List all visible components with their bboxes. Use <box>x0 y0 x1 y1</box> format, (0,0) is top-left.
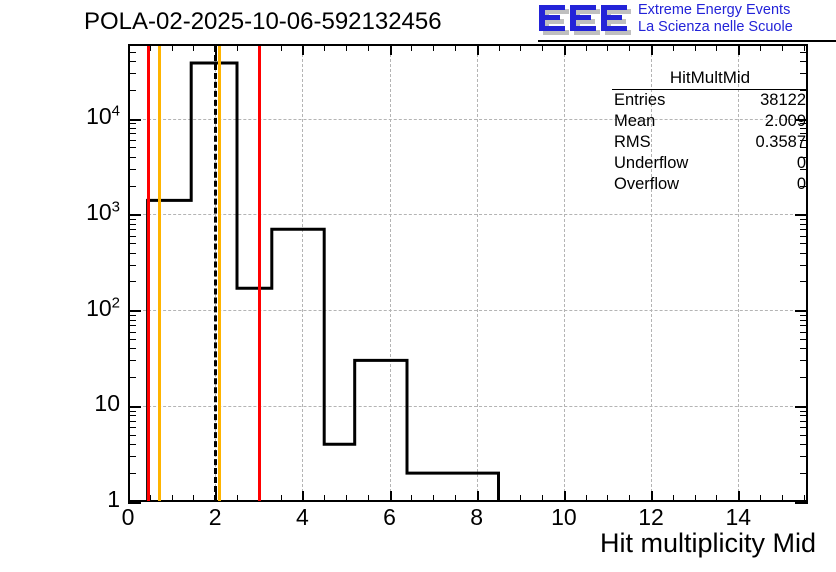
y-axis-tick <box>128 421 136 422</box>
y-axis-tick-right <box>800 377 808 378</box>
y-axis-tick-right <box>800 456 808 457</box>
x-axis-tick-label: 0 <box>122 504 135 531</box>
x-axis-tick-top <box>455 44 456 51</box>
y-axis-tick <box>128 140 136 141</box>
eee-logo-line1: Extreme Energy Events <box>638 2 836 19</box>
x-axis-tick <box>586 495 587 502</box>
x-axis-tick <box>128 491 130 502</box>
y-axis-tick <box>128 325 136 326</box>
x-axis-tick <box>673 495 674 502</box>
y-axis-tick <box>128 315 136 316</box>
x-axis-tick <box>651 491 653 502</box>
root-canvas: POLA-02-2025-10-06-592132456 <box>0 0 836 572</box>
y-axis-tick <box>128 52 136 53</box>
x-axis-tick <box>346 495 347 502</box>
y-axis-tick-right <box>800 473 808 474</box>
x-axis-tick <box>455 495 456 502</box>
y-axis-tick <box>128 456 136 457</box>
y-axis-tick-right <box>795 310 808 312</box>
y-axis-tick <box>128 406 141 408</box>
lower-red-cut <box>147 46 150 501</box>
y-axis-tick <box>128 411 136 412</box>
upper-orange-cut <box>218 46 221 501</box>
y-axis-tick <box>128 224 136 225</box>
x-axis-tick <box>695 495 696 502</box>
x-axis-tick-top <box>128 44 130 55</box>
y-axis-tick-right <box>800 229 808 230</box>
y-axis-tick <box>128 243 136 244</box>
x-axis-tick-top <box>281 44 282 51</box>
y-axis-tick <box>128 415 136 416</box>
y-axis-tick <box>128 332 136 333</box>
y-axis-tick-right <box>800 360 808 361</box>
y-axis-tick <box>128 219 136 220</box>
stats-row-key: Entries <box>614 90 665 111</box>
stats-row-value: 38122 <box>760 90 806 111</box>
x-axis-tick <box>760 495 761 502</box>
x-axis-tick-top <box>302 44 304 55</box>
stats-row-key: RMS <box>614 132 651 153</box>
x-axis-tick <box>302 491 304 502</box>
y-axis-tick <box>128 157 136 158</box>
y-axis-tick <box>128 169 136 170</box>
y-axis-tick-right <box>800 236 808 237</box>
x-axis-tick <box>368 495 369 502</box>
stats-row: Entries38122 <box>612 90 808 111</box>
y-axis-tick <box>128 360 136 361</box>
y-axis-tick-right <box>795 406 808 408</box>
y-axis-tick-right <box>795 214 808 216</box>
x-axis-tick <box>433 495 434 502</box>
y-axis-tick-label: 104 <box>86 103 120 129</box>
x-axis-tick-top <box>651 44 653 55</box>
y-axis-tick-label-wrap: 102 <box>0 294 120 322</box>
y-axis-tick <box>128 229 136 230</box>
page-title: POLA-02-2025-10-06-592132456 <box>84 8 442 36</box>
y-axis-tick <box>128 186 136 187</box>
x-axis-tick <box>237 495 238 502</box>
y-axis-tick <box>128 133 136 134</box>
x-axis-tick-top <box>542 44 543 51</box>
x-axis-tick <box>607 495 608 502</box>
x-axis-tick-top <box>607 44 608 51</box>
y-axis-tick-right <box>800 253 808 254</box>
x-axis-tick-top <box>586 44 587 51</box>
y-axis-tick-right <box>800 52 808 53</box>
lower-orange-cut <box>158 46 161 501</box>
y-axis-tick-right <box>800 339 808 340</box>
x-axis-tick-top <box>673 44 674 51</box>
y-axis-tick <box>128 427 136 428</box>
x-axis-tick-label: 6 <box>383 504 396 531</box>
y-axis-tick-label: 1 <box>107 486 120 512</box>
x-axis-tick <box>390 491 392 502</box>
x-axis-tick-top <box>237 44 238 51</box>
x-axis-tick-top <box>346 44 347 51</box>
stats-row: Underflow0 <box>612 153 808 174</box>
x-axis-tick-label: 10 <box>551 504 577 531</box>
y-axis-tick <box>128 214 141 216</box>
x-axis-tick-top <box>172 44 173 51</box>
y-axis-tick-right <box>795 502 808 504</box>
stats-row: RMS0.3587 <box>612 132 808 153</box>
stats-row-value: 2.009 <box>765 111 806 132</box>
y-axis-tick-right <box>800 315 808 316</box>
eee-logo-line2: La Scienza nelle Scuole <box>638 19 836 36</box>
y-axis-tick <box>128 236 136 237</box>
x-axis-tick-top <box>324 44 325 51</box>
x-axis-tick-label: 4 <box>296 504 309 531</box>
x-axis-tick <box>716 495 717 502</box>
stats-rows: Entries38122Mean2.009RMS0.3587Underflow0… <box>612 90 808 195</box>
y-axis-tick-right <box>800 281 808 282</box>
y-axis-tick <box>128 253 136 254</box>
y-axis-tick <box>128 265 136 266</box>
upper-red-cut <box>258 46 261 501</box>
x-axis-tick <box>804 495 805 502</box>
stats-row-key: Underflow <box>614 153 688 174</box>
y-axis-tick-right <box>800 332 808 333</box>
y-axis-tick-right <box>800 243 808 244</box>
header-rule <box>538 40 836 42</box>
x-axis-tick <box>629 495 630 502</box>
y-axis-tick-right <box>800 444 808 445</box>
stats-row-value: 0.3587 <box>756 132 806 153</box>
x-axis-title: Hit multiplicity Mid <box>600 528 816 559</box>
y-axis-tick-label-wrap: 104 <box>0 103 120 131</box>
y-axis-tick-right <box>800 427 808 428</box>
x-axis-tick <box>499 495 500 502</box>
x-axis-tick-top <box>411 44 412 51</box>
y-axis-tick-right <box>800 265 808 266</box>
stats-row-value: 0 <box>797 174 806 195</box>
x-axis-tick <box>193 495 194 502</box>
y-axis-tick <box>128 90 136 91</box>
x-axis-tick <box>738 491 740 502</box>
x-axis-tick-top <box>738 44 740 55</box>
y-axis-tick <box>128 281 136 282</box>
y-axis-tick <box>128 473 136 474</box>
y-axis-tick-right <box>800 61 808 62</box>
y-axis-tick-right <box>800 325 808 326</box>
x-axis-tick-top <box>782 44 783 51</box>
y-axis-tick-right <box>800 421 808 422</box>
y-axis-tick-label: 10 <box>94 390 120 416</box>
x-axis-tick <box>542 495 543 502</box>
x-axis-tick-top <box>150 44 151 51</box>
x-axis-tick-top <box>499 44 500 51</box>
eee-logo-mark <box>538 4 634 38</box>
eee-logo: Extreme Energy Events La Scienza nelle S… <box>538 2 836 40</box>
y-axis-tick-right <box>800 44 808 45</box>
y-axis-tick-label-wrap: 1 <box>0 486 120 513</box>
x-axis-tick-top <box>520 44 521 51</box>
y-axis-tick-right <box>800 411 808 412</box>
stats-box: HitMultMid Entries38122Mean2.009RMS0.358… <box>612 68 808 195</box>
stats-title: HitMultMid <box>612 68 808 90</box>
y-axis-tick <box>128 320 136 321</box>
x-axis-tick <box>324 495 325 502</box>
stats-row-key: Mean <box>614 111 655 132</box>
y-axis-tick <box>128 339 136 340</box>
y-axis-tick <box>128 348 136 349</box>
y-axis-tick-right <box>800 348 808 349</box>
stats-row-key: Overflow <box>614 174 679 195</box>
y-axis-tick <box>128 61 136 62</box>
y-axis-tick <box>128 310 141 312</box>
x-axis-tick <box>477 491 479 502</box>
y-axis-tick-right <box>800 320 808 321</box>
y-axis-tick <box>128 123 136 124</box>
y-axis-tick <box>128 444 136 445</box>
y-axis-tick-right <box>800 219 808 220</box>
x-axis-tick-top <box>390 44 392 55</box>
stats-row: Overflow0 <box>612 174 808 195</box>
x-axis-tick <box>564 491 566 502</box>
y-axis-tick-right <box>800 435 808 436</box>
x-axis-tick-top <box>564 44 566 55</box>
stats-row: Mean2.009 <box>612 111 808 132</box>
x-axis-tick-top <box>368 44 369 51</box>
x-axis-tick-top <box>716 44 717 51</box>
x-axis-tick <box>281 495 282 502</box>
y-axis-tick <box>128 119 141 121</box>
x-axis-tick-label: 2 <box>209 504 222 531</box>
y-axis-tick <box>128 147 136 148</box>
y-axis-tick-label-wrap: 103 <box>0 198 120 226</box>
y-axis-tick <box>128 44 136 45</box>
x-axis-tick <box>411 495 412 502</box>
y-axis-tick-right <box>800 224 808 225</box>
y-axis-tick <box>128 73 136 74</box>
x-axis-tick <box>520 495 521 502</box>
y-axis-tick-label: 102 <box>86 295 120 321</box>
y-axis-tick-label: 103 <box>86 199 120 225</box>
y-axis-tick <box>128 128 136 129</box>
y-axis-tick-right <box>800 415 808 416</box>
x-axis-tick-top <box>760 44 761 51</box>
x-axis-tick-label: 12 <box>638 504 664 531</box>
x-axis-tick-top <box>695 44 696 51</box>
x-axis-tick <box>150 495 151 502</box>
x-axis-tick-top <box>477 44 479 55</box>
y-axis-tick-label-wrap: 10 <box>0 390 120 417</box>
x-axis-tick-top <box>433 44 434 51</box>
eee-logo-text: Extreme Energy Events La Scienza nelle S… <box>638 2 836 36</box>
x-axis-tick-label: 8 <box>470 504 483 531</box>
x-axis-tick-top <box>629 44 630 51</box>
stats-row-value: 0 <box>797 153 806 174</box>
x-axis-tick-top <box>193 44 194 51</box>
y-axis-tick <box>128 377 136 378</box>
y-axis-tick <box>128 435 136 436</box>
x-axis-tick <box>172 495 173 502</box>
x-axis-tick-top <box>804 44 805 51</box>
x-axis-tick <box>782 495 783 502</box>
x-axis-tick-label: 14 <box>725 504 751 531</box>
